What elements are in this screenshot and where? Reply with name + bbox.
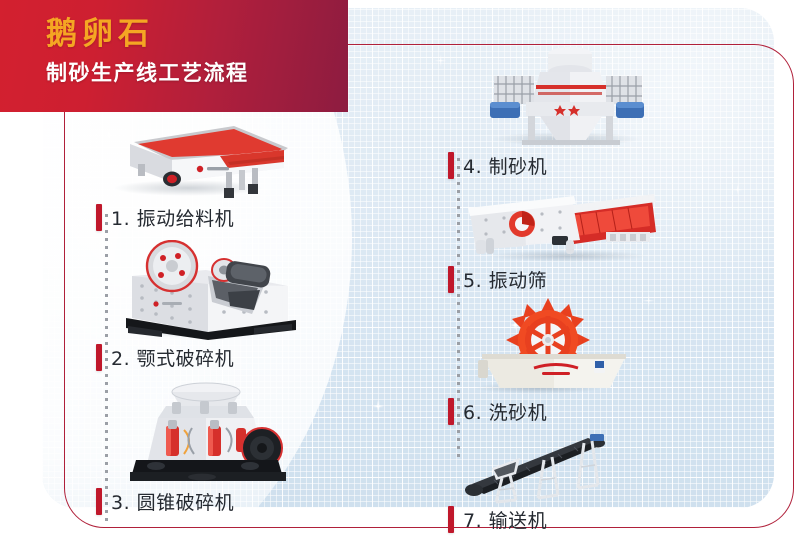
process-step-2[interactable]: 2. 颚式破碎机 <box>96 240 396 374</box>
marker-bar <box>448 266 454 293</box>
sand-making-machine-image <box>448 40 748 148</box>
step-label-1: 1. 振动给料机 <box>96 200 396 234</box>
marker-bar <box>448 152 454 179</box>
process-step-7[interactable]: 7. 输送机 <box>448 430 748 536</box>
marker-bar <box>96 344 102 371</box>
marker-bar <box>448 506 454 533</box>
step-label-3: 3. 圆锥破碎机 <box>96 484 396 518</box>
process-step-4[interactable]: 4. 制砂机 <box>448 40 748 182</box>
cone-crusher-image <box>96 380 396 484</box>
step-label-4: 4. 制砂机 <box>448 148 748 182</box>
step-label-text: 6. 洗砂机 <box>463 398 547 425</box>
step-label-5: 5. 振动筛 <box>448 262 748 296</box>
vibrating-screen-image <box>448 184 748 262</box>
process-step-5[interactable]: 5. 振动筛 <box>448 184 748 296</box>
step-label-text: 1. 振动给料机 <box>111 204 234 231</box>
infographic-stage: 鹅卵石 制砂生产线工艺流程 <box>0 0 800 530</box>
jaw-crusher-image <box>96 240 396 340</box>
marker-bar <box>96 204 102 231</box>
banner-title-main: 鹅卵石 <box>46 16 348 52</box>
left-process-column: 1. 振动给料机 <box>96 104 396 518</box>
step-label-7: 7. 输送机 <box>448 502 748 536</box>
step-label-text: 2. 颚式破碎机 <box>111 344 234 371</box>
step-label-6: 6. 洗砂机 <box>448 394 748 428</box>
process-step-6[interactable]: 6. 洗砂机 <box>448 298 748 428</box>
belt-conveyor-image <box>448 430 748 502</box>
sand-washer-image <box>448 298 748 394</box>
step-label-text: 4. 制砂机 <box>463 152 547 179</box>
title-banner: 鹅卵石 制砂生产线工艺流程 <box>0 0 348 112</box>
process-step-3[interactable]: 3. 圆锥破碎机 <box>96 380 396 518</box>
step-label-text: 3. 圆锥破碎机 <box>111 488 234 515</box>
step-label-2: 2. 颚式破碎机 <box>96 340 396 374</box>
process-step-1[interactable]: 1. 振动给料机 <box>96 104 396 234</box>
marker-bar <box>96 488 102 515</box>
step-label-text: 5. 振动筛 <box>463 266 547 293</box>
vibrating-feeder-image <box>96 104 396 200</box>
right-process-column: 4. 制砂机 <box>448 40 748 536</box>
banner-title-sub: 制砂生产线工艺流程 <box>46 61 348 86</box>
step-label-text: 7. 输送机 <box>463 506 547 533</box>
marker-bar <box>448 398 454 425</box>
